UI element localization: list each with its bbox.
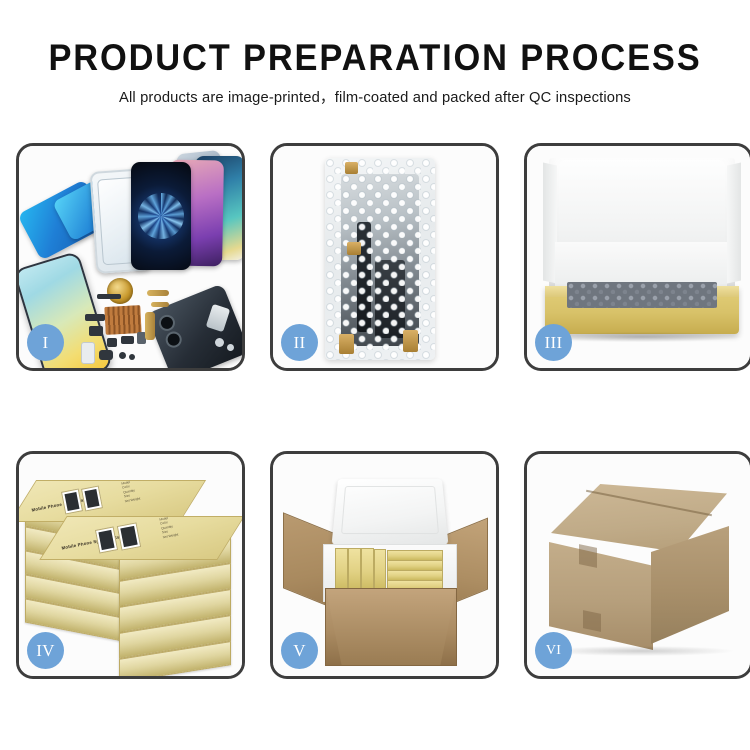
carton-front-face xyxy=(549,542,653,650)
screw-part xyxy=(227,344,234,351)
photo-inner-box-packing: III xyxy=(527,146,750,368)
product-preparation-infographic: PRODUCT PREPARATION PROCESS All products… xyxy=(0,0,750,750)
foam-lid xyxy=(332,479,449,545)
panel-step-1: I xyxy=(16,143,245,371)
phone-dark-display xyxy=(131,162,191,270)
tape-piece xyxy=(403,330,418,352)
tape-piece xyxy=(345,162,358,174)
bubble-wrap-pouch xyxy=(325,158,435,360)
photo-bubble-wrapped-part: II xyxy=(273,146,496,368)
tape-piece xyxy=(347,242,361,255)
drop-shadow xyxy=(547,646,733,656)
spare-part xyxy=(85,314,105,321)
camera-lens-icon xyxy=(163,329,184,350)
photo-foam-carton-packing: V xyxy=(273,454,496,676)
drop-shadow xyxy=(543,332,741,342)
flex-cable-part xyxy=(151,302,169,307)
flex-cable-part xyxy=(145,312,155,340)
camera-lens-icon xyxy=(157,312,178,333)
phone-back-housing xyxy=(146,283,242,368)
photo-stacked-retail-boxes: Mobile Phone Spare Parts ModelColorQuant… xyxy=(19,454,242,676)
step-badge-5: V xyxy=(281,632,318,669)
yellow-box xyxy=(361,548,374,592)
bubble-wrapped-contents xyxy=(567,282,717,308)
tape-piece xyxy=(339,334,354,354)
photo-sealed-shipping-carton: VI xyxy=(527,454,750,676)
yellow-box xyxy=(335,548,348,592)
retail-box-lid-top xyxy=(39,516,242,560)
page-title: PRODUCT PREPARATION PROCESS xyxy=(26,36,724,80)
spare-part xyxy=(121,336,134,344)
process-grid: I II xyxy=(16,143,734,679)
bubble-texture xyxy=(325,158,435,360)
shipping-carton-body xyxy=(325,588,457,666)
panel-step-3: III xyxy=(524,143,750,371)
spare-part xyxy=(89,326,103,336)
step-badge-3: III xyxy=(535,324,572,361)
carton-flap-tab xyxy=(579,544,597,568)
screw-part xyxy=(119,352,126,359)
step-badge-1: I xyxy=(27,324,64,361)
spare-part xyxy=(99,350,113,360)
yellow-box xyxy=(374,549,386,592)
photo-products-and-parts: I xyxy=(19,146,242,368)
flex-cable-part xyxy=(147,290,169,296)
step-badge-4: IV xyxy=(27,632,64,669)
panel-step-5: V xyxy=(270,451,499,679)
header: PRODUCT PREPARATION PROCESS All products… xyxy=(0,36,750,107)
display-burst-graphic xyxy=(138,193,184,239)
step-badge-6: VI xyxy=(535,632,572,669)
panel-step-2: II xyxy=(270,143,499,371)
yellow-box xyxy=(348,548,361,592)
panel-step-4: Mobile Phone Spare Parts ModelColorQuant… xyxy=(16,451,245,679)
carton-flap-tab xyxy=(583,610,601,632)
screw-part xyxy=(215,338,224,347)
screw-part xyxy=(129,354,135,360)
small-screen-part xyxy=(81,342,95,364)
vibration-motor-part xyxy=(107,278,133,304)
page-subtitle: All products are image-printed，film-coat… xyxy=(11,88,739,107)
spare-part xyxy=(97,294,121,299)
step-badge-2: II xyxy=(281,324,318,361)
spare-part xyxy=(107,338,117,347)
panel-step-6: VI xyxy=(524,451,750,679)
circuit-board-part xyxy=(104,305,141,335)
